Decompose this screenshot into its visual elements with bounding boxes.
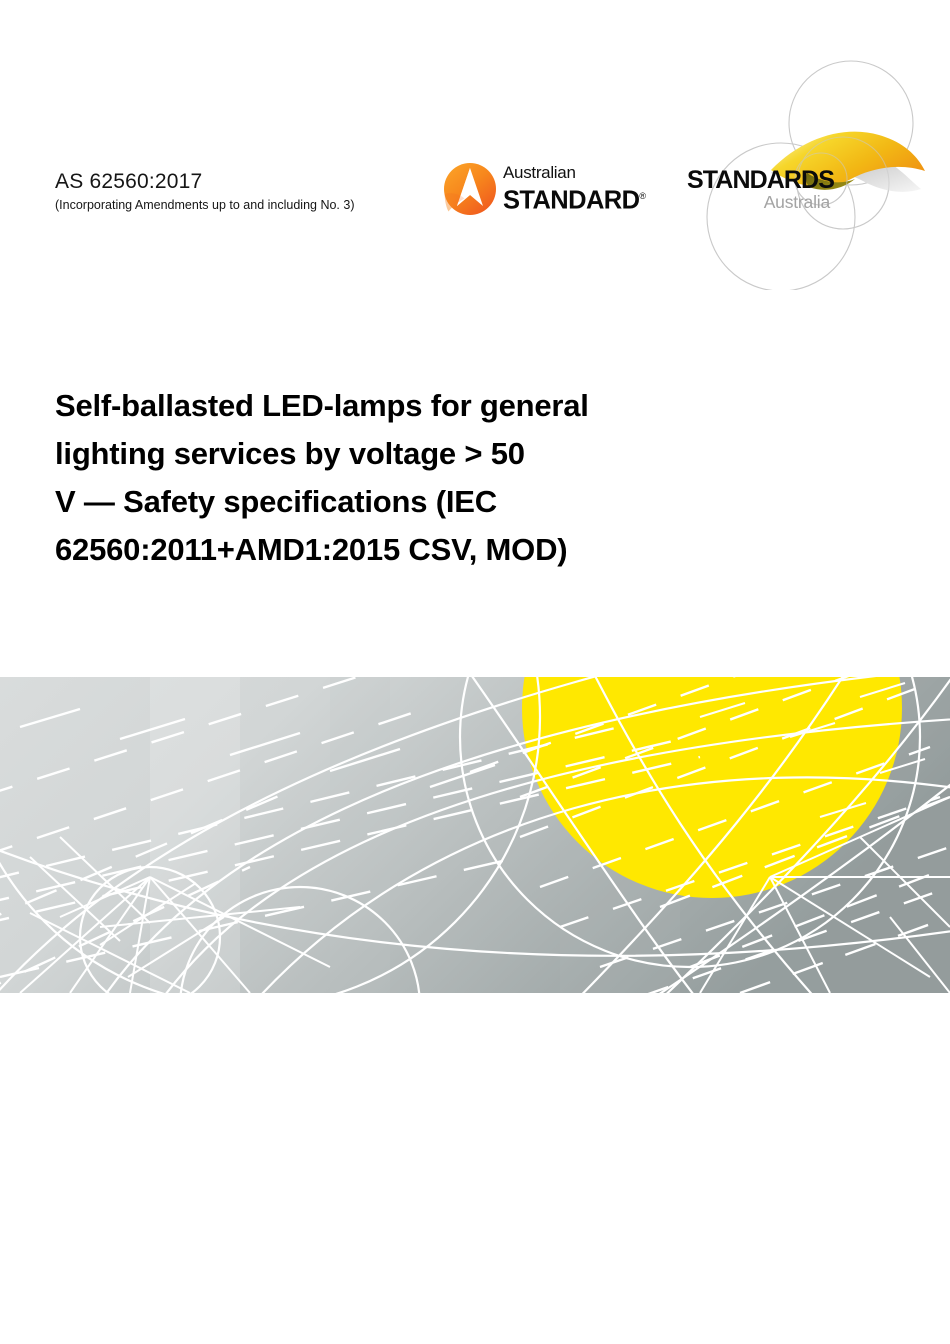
standards-australia-wordmark: STANDARDS Australia (687, 167, 832, 212)
document-reference: AS 62560:2017 (Incorporating Amendments … (55, 170, 435, 213)
standards-australia-logo: STANDARDS Australia (675, 55, 950, 290)
cover-header: AS 62560:2017 (Incorporating Amendments … (0, 0, 950, 300)
standards-australia-line1: STANDARDS (687, 167, 832, 193)
australian-standard-line2: STANDARD® (503, 183, 638, 215)
standards-australia-line2: Australia (687, 193, 832, 212)
australian-standard-wordmark: Australian STANDARD® (503, 163, 638, 215)
title-line-1: Self-ballasted LED-lamps for general (55, 382, 755, 430)
australian-standard-line1: Australian (503, 163, 638, 183)
australian-standard-line2-text: STANDARD (503, 187, 639, 215)
title-line-3: V — Safety specifications (IEC (55, 478, 755, 526)
cover-graphic-band (0, 677, 950, 993)
title-line-4: 62560:2011+AMD1:2015 CSV, MOD) (55, 526, 755, 574)
amendments-note: (Incorporating Amendments up to and incl… (55, 198, 435, 213)
australian-standard-roundel-icon (443, 162, 497, 216)
title-line-2: lighting services by voltage > 50 (55, 430, 755, 478)
document-title: Self-ballasted LED-lamps for general lig… (55, 382, 755, 574)
standard-designation: AS 62560:2017 (55, 170, 435, 194)
registered-trademark-icon: ® (639, 191, 646, 201)
australian-standard-logo: Australian STANDARD® (443, 160, 638, 220)
